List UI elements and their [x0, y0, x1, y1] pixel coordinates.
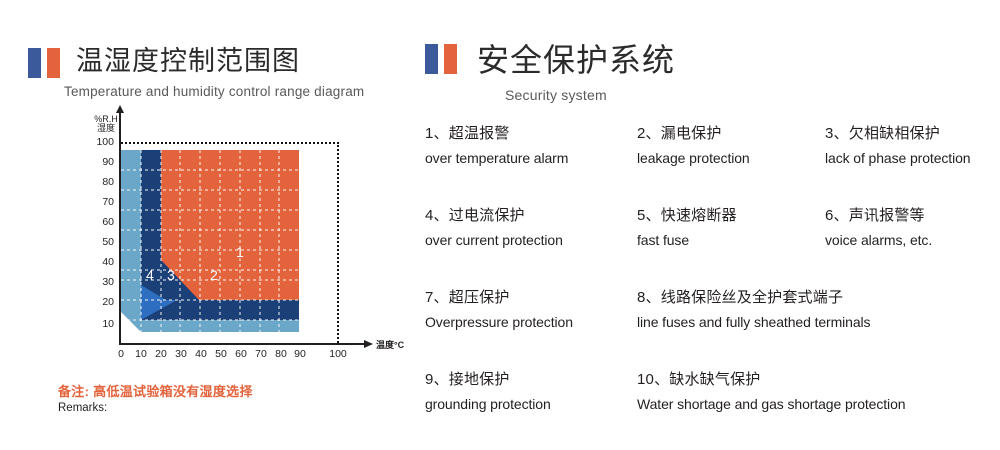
- remarks-en: Remarks:: [58, 402, 253, 414]
- feature-label-cn: 4、过电流保护: [425, 204, 637, 225]
- feature-item-4: 4、过电流保护 over current protection: [425, 204, 637, 286]
- feature-label-en: leakage protection: [637, 150, 825, 166]
- y-tick-80: 80: [90, 176, 114, 188]
- feature-item-10: 10、缺水缺气保护 Water shortage and gas shortag…: [637, 368, 1000, 450]
- feature-label-cn: 10、缺水缺气保护: [637, 368, 1000, 389]
- feature-item-9: 9、接地保护 grounding protection: [425, 368, 637, 450]
- x-axis-arrow-icon: [364, 340, 373, 348]
- region-label-2: 2: [210, 267, 218, 283]
- region-label-1: 1: [236, 244, 244, 260]
- security-system-panel: 安全保护系统 Security system 1、超温报警 over tempe…: [415, 0, 1000, 412]
- feature-label-en: Water shortage and gas shortage protecti…: [637, 396, 1000, 412]
- flag-bar-blue-icon: [425, 44, 438, 74]
- x-tick-0: 0: [111, 348, 131, 360]
- flag-bar-blue-icon: [28, 48, 41, 78]
- section-marker-right: [425, 44, 457, 74]
- feature-label-cn: 7、超压保护: [425, 286, 637, 307]
- feature-label-en: voice alarms, etc.: [825, 232, 1000, 248]
- temperature-humidity-chart: %R.H 湿度 温度°C: [88, 112, 398, 370]
- feature-item-6: 6、声讯报警等 voice alarms, etc.: [825, 204, 1000, 286]
- feature-label-cn: 2、漏电保护: [637, 122, 825, 143]
- feature-label-en: grounding protection: [425, 396, 637, 412]
- right-section-header: 安全保护系统 Security system: [425, 44, 675, 103]
- chart-x-axis-label: 温度°C: [376, 338, 404, 351]
- feature-item-8: 8、线路保险丝及全护套式端子 line fuses and fully shea…: [637, 286, 1000, 368]
- chart-boundary-right: [337, 142, 339, 343]
- flag-bar-orange-icon: [444, 44, 457, 74]
- left-section-header: 温湿度控制范围图 Temperature and humidity contro…: [28, 48, 364, 99]
- y-tick-70: 70: [90, 196, 114, 208]
- y-tick-100: 100: [90, 136, 114, 148]
- x-tick-20: 20: [151, 348, 171, 360]
- x-tick-50: 50: [211, 348, 231, 360]
- y-tick-10: 10: [90, 318, 114, 330]
- remarks-cn: 备注: 高低温试验箱没有湿度选择: [58, 381, 253, 400]
- section-marker-left: [28, 48, 60, 78]
- feature-label-en: line fuses and fully sheathed terminals: [637, 314, 1000, 330]
- y-tick-60: 60: [90, 216, 114, 228]
- region-label-4: 4: [146, 267, 154, 283]
- feature-label-cn: 9、接地保护: [425, 368, 637, 389]
- feature-label-en: lack of phase protection: [825, 150, 1000, 166]
- region-label-3: 3: [167, 267, 175, 283]
- y-tick-90: 90: [90, 156, 114, 168]
- y-tick-30: 30: [90, 276, 114, 288]
- x-tick-30: 30: [171, 348, 191, 360]
- x-tick-10: 10: [131, 348, 151, 360]
- feature-item-1: 1、超温报警 over temperature alarm: [425, 122, 637, 204]
- y-tick-40: 40: [90, 256, 114, 268]
- feature-label-cn: 8、线路保险丝及全护套式端子: [637, 286, 1000, 307]
- security-feature-list: 1、超温报警 over temperature alarm 2、漏电保护 lea…: [425, 122, 1000, 450]
- chart-plot-area: [121, 142, 341, 344]
- feature-label-en: fast fuse: [637, 232, 825, 248]
- feature-label-en: Overpressure protection: [425, 314, 637, 330]
- feature-label-cn: 6、声讯报警等: [825, 204, 1000, 225]
- flag-bar-orange-icon: [47, 48, 60, 78]
- feature-item-2: 2、漏电保护 leakage protection: [637, 122, 825, 204]
- x-tick-70: 70: [251, 348, 271, 360]
- y-tick-50: 50: [90, 236, 114, 248]
- y-tick-20: 20: [90, 296, 114, 308]
- feature-label-en: over current protection: [425, 232, 637, 248]
- x-tick-60: 60: [231, 348, 251, 360]
- page-root: 温湿度控制范围图 Temperature and humidity contro…: [0, 0, 1000, 412]
- x-tick-40: 40: [191, 348, 211, 360]
- left-heading-cn: 温湿度控制范围图: [76, 48, 364, 75]
- feature-label-cn: 5、快速熔断器: [637, 204, 825, 225]
- feature-item-3: 3、欠相缺相保护 lack of phase protection: [825, 122, 1000, 204]
- feature-label-en: over temperature alarm: [425, 150, 637, 166]
- remarks-block: 备注: 高低温试验箱没有湿度选择 Remarks:: [58, 381, 253, 414]
- feature-item-7: 7、超压保护 Overpressure protection: [425, 286, 637, 368]
- feature-label-cn: 1、超温报警: [425, 122, 637, 143]
- x-tick-100: 100: [328, 348, 348, 360]
- right-heading-en: Security system: [505, 87, 675, 103]
- region-1-orange: [161, 150, 299, 300]
- x-tick-90: 90: [290, 348, 310, 360]
- feature-item-5: 5、快速熔断器 fast fuse: [637, 204, 825, 286]
- x-tick-80: 80: [271, 348, 291, 360]
- temperature-humidity-panel: 温湿度控制范围图 Temperature and humidity contro…: [0, 0, 415, 412]
- feature-label-cn: 3、欠相缺相保护: [825, 122, 1000, 143]
- right-heading-cn: 安全保护系统: [477, 44, 675, 76]
- left-heading-en: Temperature and humidity control range d…: [64, 84, 364, 99]
- chart-boundary-top: [121, 142, 339, 144]
- chart-regions: [121, 150, 299, 332]
